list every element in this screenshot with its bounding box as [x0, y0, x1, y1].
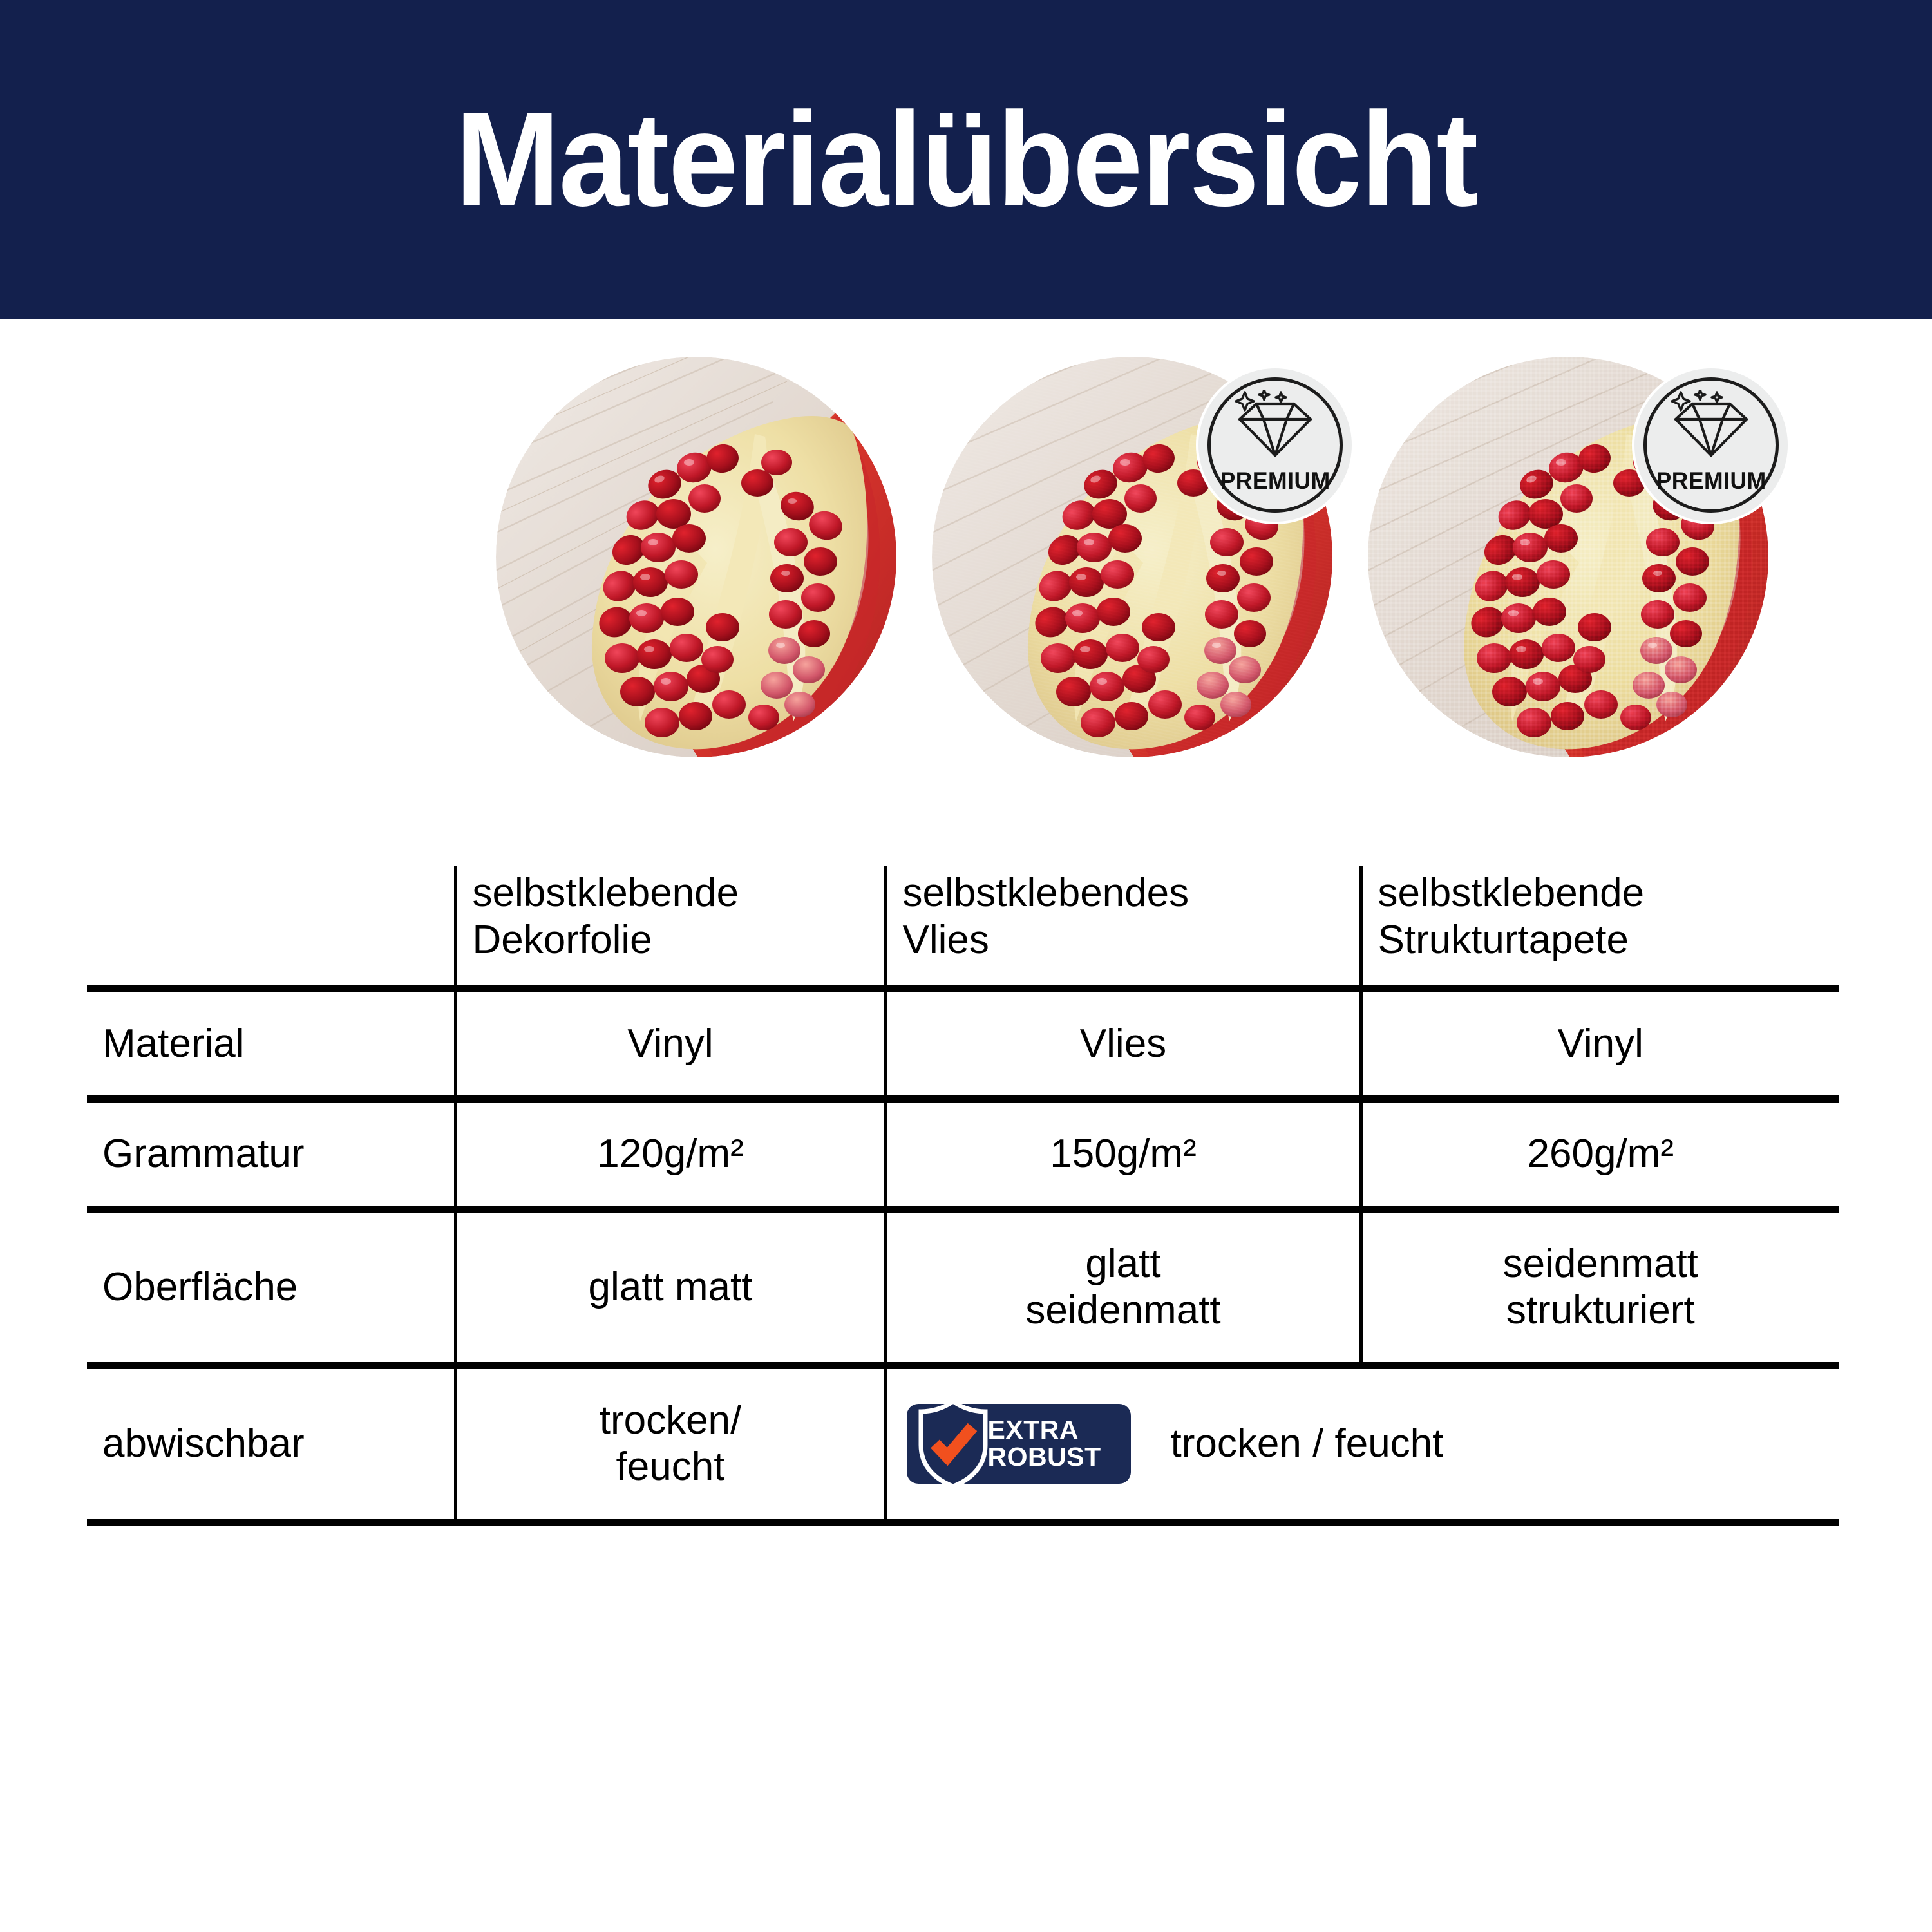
cell-abwischbar-dekorfolie: trocken/ feucht — [455, 1365, 885, 1522]
column-header-strukturtapete: selbstklebende Strukturtapete — [1361, 866, 1839, 989]
row-label-grammatur: Grammatur — [87, 1099, 455, 1209]
material-spec-table: selbstklebende Dekorfolie selbstklebende… — [87, 866, 1839, 1526]
extra-robust-line2: ROBUST — [988, 1444, 1101, 1471]
cell-line1: trocken/ — [600, 1398, 742, 1443]
table-row: Oberfläche glatt matt glatt seidenmatt s… — [87, 1209, 1839, 1365]
extra-robust-label: EXTRA ROBUST — [988, 1417, 1101, 1471]
cell-grammatur-strukturtapete: 260g/m² — [1361, 1099, 1839, 1209]
row-label-abwischbar: abwischbar — [87, 1365, 455, 1522]
cell-line2: seidenmatt — [1025, 1288, 1220, 1332]
extra-robust-badge: EXTRA ROBUST — [907, 1404, 1131, 1484]
column-header-line1: selbstklebende — [473, 871, 739, 915]
cell-line2: strukturiert — [1506, 1288, 1695, 1332]
cell-material-strukturtapete: Vinyl — [1361, 989, 1839, 1099]
table-row: Material Vinyl Vlies Vinyl — [87, 989, 1839, 1099]
cell-oberflaeche-vlies: glatt seidenmatt — [885, 1209, 1361, 1365]
swatch-image-dekorfolie — [496, 357, 896, 757]
cell-oberflaeche-strukturtapete: seidenmatt strukturiert — [1361, 1209, 1839, 1365]
material-swatch-strip: PREMIUM — [0, 319, 1932, 790]
extra-robust-line1: EXTRA — [988, 1415, 1079, 1444]
table-header-row: selbstklebende Dekorfolie selbstklebende… — [87, 866, 1839, 989]
row-label-oberflaeche: Oberfläche — [87, 1209, 455, 1365]
premium-badge: PREMIUM — [1634, 368, 1788, 522]
diamond-icon — [1671, 390, 1752, 462]
row-label-material: Material — [87, 989, 455, 1099]
cell-material-vlies: Vlies — [885, 989, 1361, 1099]
cell-material-dekorfolie: Vinyl — [455, 989, 885, 1099]
page-title: Materialübersicht — [455, 93, 1477, 227]
table-corner-cell — [87, 866, 455, 989]
cell-line1: seidenmatt — [1503, 1242, 1698, 1286]
column-header-line2: Vlies — [903, 918, 989, 962]
column-header-vlies: selbstklebendes Vlies — [885, 866, 1361, 989]
cell-line1: glatt — [1085, 1242, 1160, 1286]
premium-badge-label: PREMIUM — [1656, 468, 1766, 495]
cell-abwischbar-vlies-strukturtapete: EXTRA ROBUST trocken / feucht — [885, 1365, 1839, 1522]
table-row: abwischbar trocken/ feucht — [87, 1365, 1839, 1522]
premium-badge-label: PREMIUM — [1220, 468, 1330, 495]
column-header-line1: selbstklebende — [1378, 871, 1645, 915]
cell-grammatur-vlies: 150g/m² — [885, 1099, 1361, 1209]
cell-abwischbar-text: trocken / feucht — [1171, 1421, 1444, 1467]
column-header-line1: selbstklebendes — [903, 871, 1189, 915]
cell-line2: feucht — [616, 1444, 725, 1489]
column-header-line2: Dekorfolie — [473, 918, 652, 962]
shield-check-icon — [917, 1399, 989, 1489]
spec-table: selbstklebende Dekorfolie selbstklebende… — [87, 866, 1839, 1526]
header-banner: Materialübersicht — [0, 0, 1932, 319]
diamond-icon — [1235, 390, 1316, 462]
table-row: Grammatur 120g/m² 150g/m² 260g/m² — [87, 1099, 1839, 1209]
swatch-vlies[interactable]: PREMIUM — [932, 357, 1332, 757]
column-header-line2: Strukturtapete — [1378, 918, 1629, 962]
swatch-strukturtapete[interactable]: PREMIUM — [1368, 357, 1768, 757]
swatch-dekorfolie[interactable] — [496, 357, 896, 757]
cell-grammatur-dekorfolie: 120g/m² — [455, 1099, 885, 1209]
premium-badge: PREMIUM — [1198, 368, 1352, 522]
cell-oberflaeche-dekorfolie: glatt matt — [455, 1209, 885, 1365]
column-header-dekorfolie: selbstklebende Dekorfolie — [455, 866, 885, 989]
